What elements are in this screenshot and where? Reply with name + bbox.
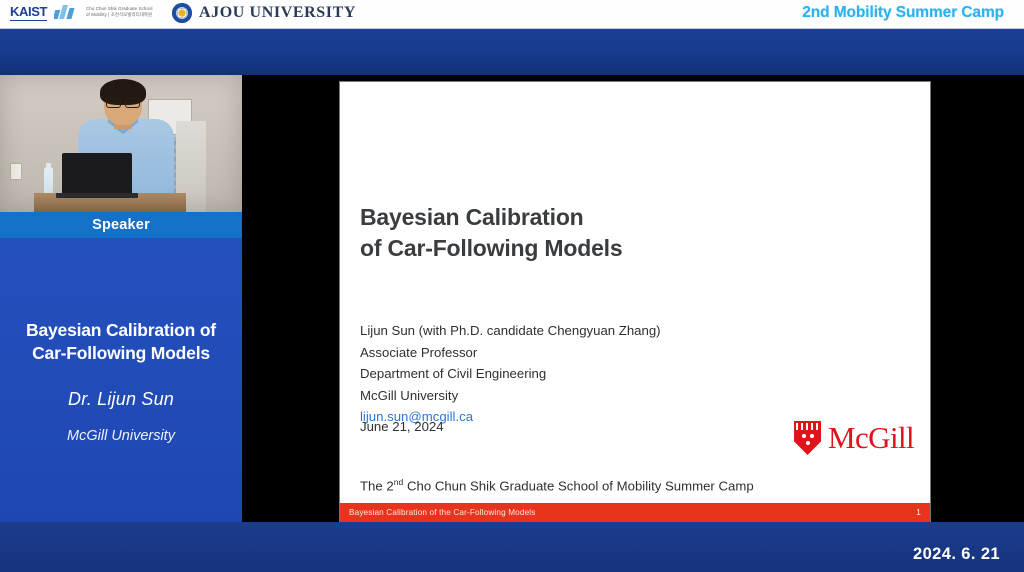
event-title: 2nd Mobility Summer Camp [802, 4, 1004, 22]
slide-date: June 21, 2024 [360, 419, 444, 434]
speaker-label-bar: Speaker [0, 212, 242, 238]
slide-event-line: The 2nd Cho Chun Shik Graduate School of… [360, 477, 754, 493]
speaker-label: Speaker [92, 217, 150, 233]
talk-title-line2: Car-Following Models [4, 342, 238, 365]
slide-author-block: Lijun Sun (with Ph.D. candidate Chengyua… [360, 320, 661, 428]
bottom-blue-band: 2024. 6. 21 [0, 522, 1024, 572]
mcgill-shield-icon [794, 421, 821, 455]
slide-department-line: Department of Civil Engineering [360, 363, 661, 385]
slide-event-prefix: The 2 [360, 478, 394, 493]
slide-title-line2: of Car-Following Models [360, 233, 622, 264]
kaist-subtitle: Cho Chun Shik Graduate School of Mobilit… [86, 6, 153, 16]
slide-title-line1: Bayesian Calibration [360, 202, 622, 233]
broadcast-date-stamp: 2024. 6. 21 [913, 545, 1000, 564]
slide-event-ordinal: nd [394, 477, 404, 487]
mcgill-wordmark: McGill [828, 420, 914, 456]
video-vignette [0, 75, 242, 212]
speaker-affiliation: McGill University [0, 428, 242, 444]
slide-event-suffix: Cho Chun Shik Graduate School of Mobilit… [403, 478, 753, 493]
mcgill-logo: McGill [794, 420, 914, 456]
talk-title-line1: Bayesian Calibration of [4, 319, 238, 342]
speaker-info-block: Bayesian Calibration of Car-Following Mo… [0, 238, 242, 522]
slide-page-number: 1 [916, 508, 921, 517]
kaist-logo: KAIST Cho Chun Shik Graduate School of M… [10, 4, 153, 19]
kaist-slash-icon [54, 4, 80, 19]
speaker-name: Dr. Lijun Sun [0, 389, 242, 410]
presentation-slide[interactable]: Bayesian Calibration of Car-Following Mo… [340, 82, 930, 522]
kaist-wordmark: KAIST [10, 4, 47, 19]
slide-role-line: Associate Professor [360, 342, 661, 364]
kaist-subtitle-line2: of Mobility | 조천식모빌리티대학원 [86, 12, 153, 17]
slide-title: Bayesian Calibration of Car-Following Mo… [360, 202, 622, 265]
slide-author-line: Lijun Sun (with Ph.D. candidate Chengyua… [360, 320, 661, 342]
ajou-logo: AJOU UNIVERSITY [172, 3, 356, 23]
top-blue-band [0, 29, 1024, 75]
slide-footer-bar: Bayesian Calibration of the Car-Followin… [340, 503, 930, 522]
ajou-seal-icon [172, 3, 192, 23]
ajou-wordmark: AJOU UNIVERSITY [199, 4, 356, 22]
talk-title: Bayesian Calibration of Car-Following Mo… [0, 319, 242, 365]
slide-footer-text: Bayesian Calibration of the Car-Followin… [349, 508, 536, 517]
speaker-panel: Speaker Bayesian Calibration of Car-Foll… [0, 75, 242, 522]
broadcast-stage: KAIST Cho Chun Shik Graduate School of M… [0, 0, 1024, 572]
speaker-video-feed[interactable] [0, 75, 242, 212]
slide-stage: Bayesian Calibration of Car-Following Mo… [242, 75, 1024, 522]
slide-university-line: McGill University [360, 385, 661, 407]
top-header-bar: KAIST Cho Chun Shik Graduate School of M… [0, 0, 1024, 29]
